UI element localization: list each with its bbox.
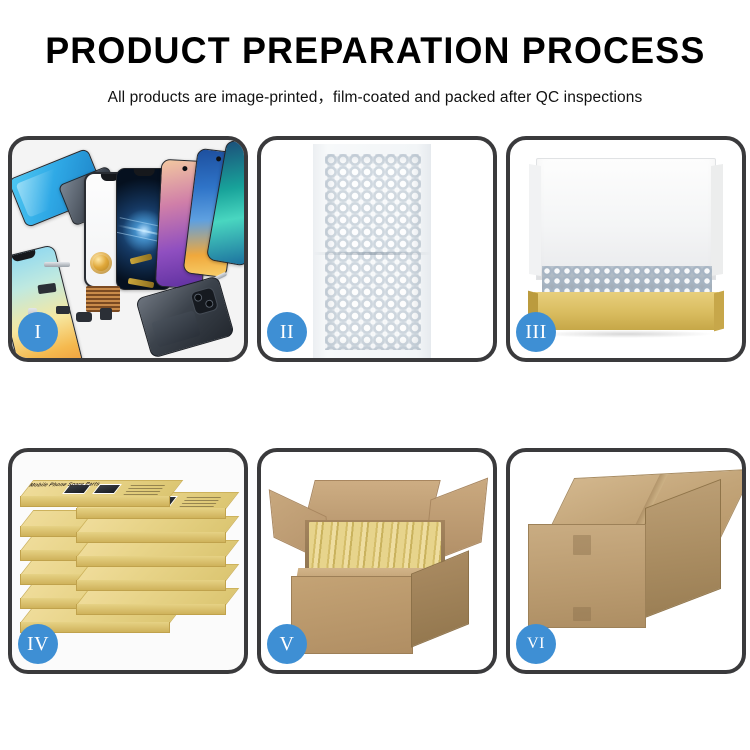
step-badge-2: II <box>267 312 307 352</box>
retail-box <box>76 540 226 566</box>
page-subtitle: All products are image-printed，film-coat… <box>108 85 643 107</box>
metal-bracket-icon <box>44 262 70 267</box>
step-panel-2: II <box>257 136 497 362</box>
step-panel-5: V <box>257 448 497 674</box>
vibration-motor-icon <box>100 308 112 320</box>
page-title: PRODUCT PREPARATION PROCESS <box>45 32 705 69</box>
drop-shadow <box>538 330 714 338</box>
step-panel-1: I <box>8 136 248 362</box>
open-inner-box-icon <box>528 158 724 344</box>
carton-front-face <box>291 576 413 654</box>
retail-box <box>76 516 226 542</box>
step-panel-4: Mobile Phone Spare Parts Mobile Phone Sp… <box>8 448 248 674</box>
step-badge-3: III <box>516 312 556 352</box>
sealed-carton-icon <box>528 478 730 656</box>
packed-retail-boxes <box>309 522 441 574</box>
header: PRODUCT PREPARATION PROCESS All products… <box>0 0 750 128</box>
copper-coil-icon <box>90 252 112 274</box>
box-tray <box>534 292 718 330</box>
step-badge-5: V <box>267 624 307 664</box>
step-badge-6: VI <box>516 624 556 664</box>
pouch-icon <box>313 144 431 360</box>
retail-box <box>76 588 226 614</box>
carton-front-face <box>528 524 646 628</box>
carton-hand-hole <box>573 535 591 555</box>
product-preparation-infographic: PRODUCT PREPARATION PROCESS All products… <box>0 0 750 750</box>
carton-seam-tab <box>573 607 591 621</box>
step-badge-4: IV <box>18 624 58 664</box>
connector-chip-icon <box>56 306 70 314</box>
box-lid <box>536 158 716 280</box>
step-panel-6: VI <box>506 448 746 674</box>
camera-module-icon <box>76 312 92 322</box>
retail-box-printed: Mobile Phone Spare Parts <box>20 480 170 506</box>
pouch-seam <box>313 252 431 255</box>
process-grid: I II III <box>0 136 750 696</box>
open-carton-icon <box>275 476 479 656</box>
step-badge-1: I <box>18 312 58 352</box>
step-panel-3: III <box>506 136 746 362</box>
retail-box <box>76 564 226 590</box>
